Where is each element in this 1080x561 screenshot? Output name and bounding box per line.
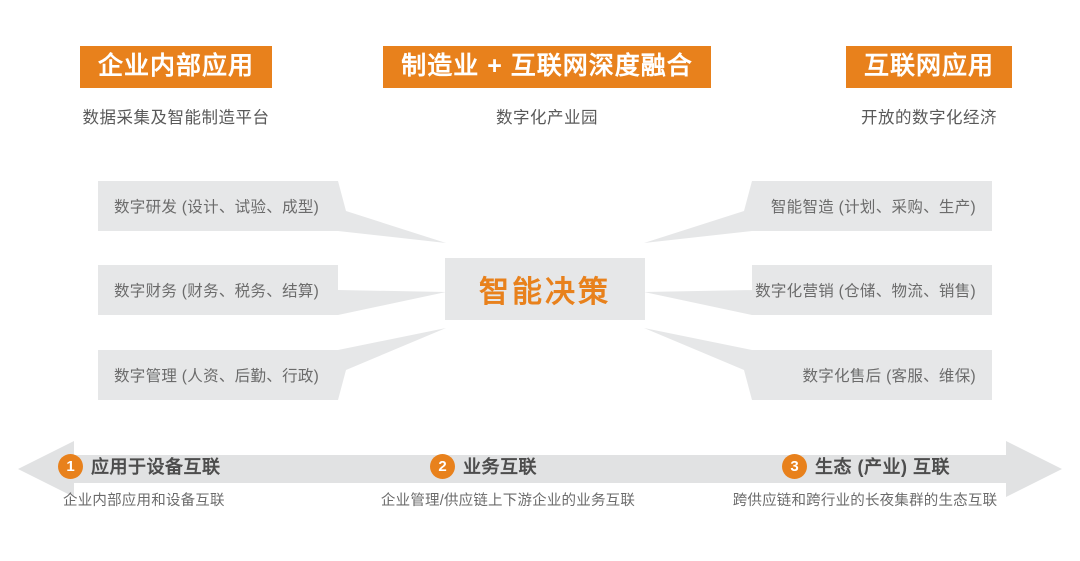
left-item-3-label: 数字管理 (人资、后勤、行政) xyxy=(114,364,319,386)
progression-step-2-description: 企业管理/供应链上下游企业的业务互联 xyxy=(358,489,658,510)
right-item-1-box: 智能智造 (计划、采购、生产) xyxy=(752,181,992,231)
header-badge-internet-application: 互联网应用 xyxy=(846,46,1012,88)
right-item-2: 数字化营销 (仓储、物流、销售) xyxy=(752,265,992,315)
left-item-3: 数字管理 (人资、后勤、行政) xyxy=(98,350,338,400)
header-subtitle-manufacturing-internet: 数字化产业园 xyxy=(352,104,742,128)
right-item-2-label: 数字化营销 (仓储、物流、销售) xyxy=(755,279,976,301)
left-item-1-box: 数字研发 (设计、试验、成型) xyxy=(98,181,338,231)
progression-step-2-title: 业务互联 xyxy=(463,453,537,479)
left-item-2-label: 数字财务 (财务、税务、结算) xyxy=(114,279,319,301)
progression-step-1-number: 1 xyxy=(58,454,83,479)
progression-step-2-title-row: 2 业务互联 xyxy=(358,452,658,480)
progression-step-1-title-row: 1 应用于设备互联 xyxy=(58,452,308,480)
header-column-enterprise-internal: 企业内部应用 数据采集及智能制造平台 xyxy=(36,46,316,128)
left-item-2-box: 数字财务 (财务、税务、结算) xyxy=(98,265,338,315)
header-subtitle-internet-application: 开放的数字化经济 xyxy=(800,104,1058,128)
progression-step-1: 1 应用于设备互联 企业内部应用和设备互联 xyxy=(58,452,308,522)
progression-step-1-description: 企业内部应用和设备互联 xyxy=(58,489,308,510)
progression-step-3: 3 生态 (产业) 互联 跨供应链和跨行业的长夜集群的生态互联 xyxy=(700,452,1030,522)
progression-step-3-description: 跨供应链和跨行业的长夜集群的生态互联 xyxy=(700,489,1030,510)
right-item-1-label: 智能智造 (计划、采购、生产) xyxy=(771,195,976,217)
left-item-1-label: 数字研发 (设计、试验、成型) xyxy=(114,195,319,217)
right-item-2-box: 数字化营销 (仓储、物流、销售) xyxy=(752,265,992,315)
right-item-1: 智能智造 (计划、采购、生产) xyxy=(752,181,992,231)
progression-step-3-number: 3 xyxy=(782,454,807,479)
header-subtitle-enterprise-internal: 数据采集及智能制造平台 xyxy=(36,104,316,128)
left-item-2: 数字财务 (财务、税务、结算) xyxy=(98,265,338,315)
header-badge-manufacturing-internet: 制造业 + 互联网深度融合 xyxy=(383,46,711,88)
right-item-3-tail-arrow xyxy=(642,328,752,400)
right-item-3-box: 数字化售后 (客服、维保) xyxy=(752,350,992,400)
header-column-manufacturing-internet: 制造业 + 互联网深度融合 数字化产业园 xyxy=(352,46,742,128)
right-item-3-label: 数字化售后 (客服、维保) xyxy=(802,364,976,386)
header-badge-enterprise-internal: 企业内部应用 xyxy=(80,46,272,88)
left-item-1-tail-arrow xyxy=(338,181,448,251)
center-decision-label: 智能决策 xyxy=(479,267,611,311)
progression-step-3-title-row: 3 生态 (产业) 互联 xyxy=(700,452,1030,480)
progression-step-3-title: 生态 (产业) 互联 xyxy=(815,453,950,479)
left-item-1: 数字研发 (设计、试验、成型) xyxy=(98,181,338,231)
header-column-internet-application: 互联网应用 开放的数字化经济 xyxy=(800,46,1058,128)
right-item-2-tail-arrow xyxy=(642,265,752,320)
progression-step-2-number: 2 xyxy=(430,454,455,479)
left-item-3-box: 数字管理 (人资、后勤、行政) xyxy=(98,350,338,400)
header-row: 企业内部应用 数据采集及智能制造平台 制造业 + 互联网深度融合 数字化产业园 … xyxy=(0,46,1080,146)
left-item-2-tail-arrow xyxy=(338,265,448,320)
progression-step-2: 2 业务互联 企业管理/供应链上下游企业的业务互联 xyxy=(358,452,658,522)
right-item-3: 数字化售后 (客服、维保) xyxy=(752,350,992,400)
diagram-canvas: 企业内部应用 数据采集及智能制造平台 制造业 + 互联网深度融合 数字化产业园 … xyxy=(0,0,1080,561)
progression-step-1-title: 应用于设备互联 xyxy=(91,453,221,479)
center-decision-box: 智能决策 xyxy=(445,258,645,320)
left-item-3-tail-arrow xyxy=(338,328,448,400)
right-item-1-tail-arrow xyxy=(642,181,752,251)
